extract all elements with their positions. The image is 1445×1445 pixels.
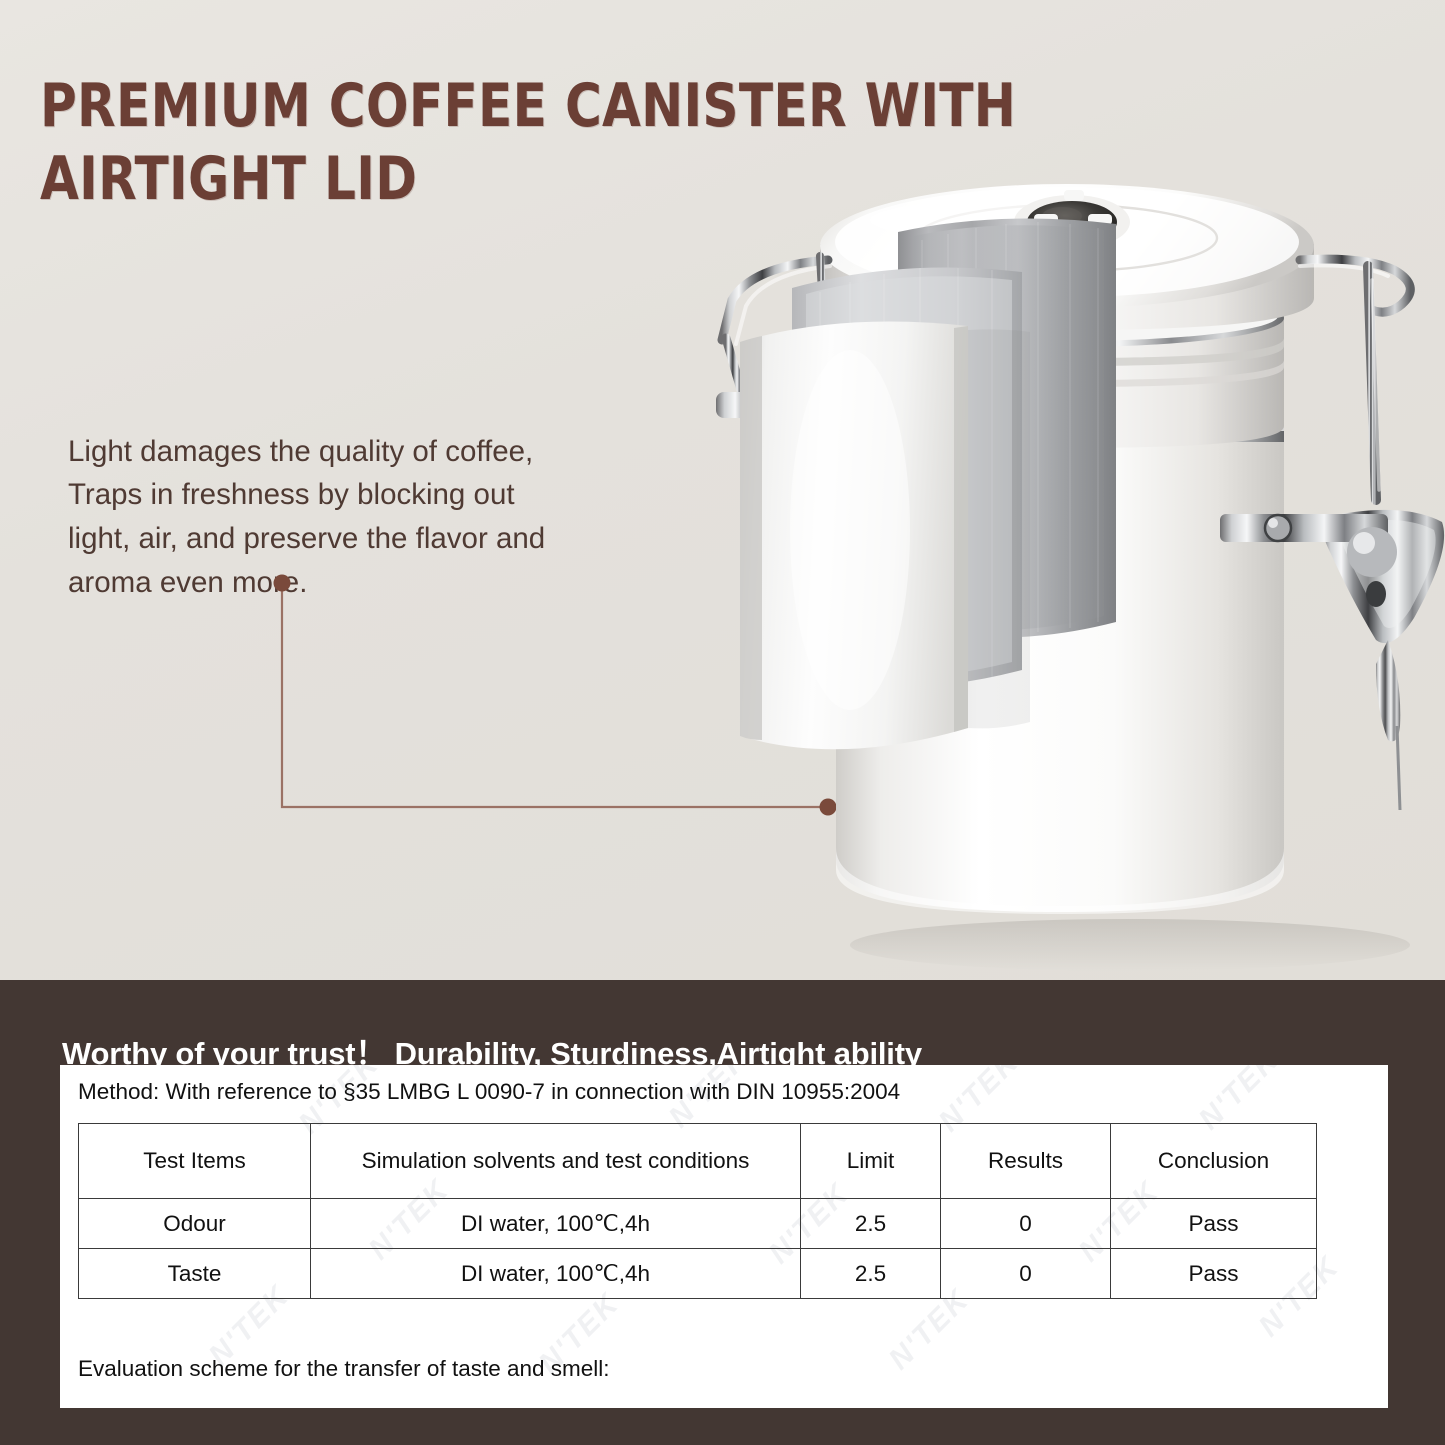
panel-cast-shadow (968, 329, 1030, 728)
hero-section: PREMIUM COFFEE CANISTER WITH AIRTIGHT LI… (0, 0, 1445, 980)
cell-conclusion: Pass (1111, 1199, 1317, 1249)
column-header-conditions: Simulation solvents and test conditions (311, 1124, 801, 1199)
evaluation-scheme-note: Evaluation scheme for the transfer of ta… (78, 1356, 610, 1382)
certification-report-card: N'TEK N'TEK N'TEK N'TEK N'TEK N'TEK N'TE… (60, 1065, 1388, 1408)
table-row: Taste DI water, 100℃,4h 2.5 0 Pass (79, 1249, 1317, 1299)
cell-conditions: DI water, 100℃,4h (311, 1199, 801, 1249)
column-header-conclusion: Conclusion (1111, 1124, 1317, 1199)
cell-conditions: DI water, 100℃,4h (311, 1249, 801, 1299)
canister-shadow (850, 919, 1410, 971)
test-results-table: Test Items Simulation solvents and test … (78, 1123, 1317, 1299)
coffee-canister-illustration (700, 170, 1445, 980)
column-header-limit: Limit (801, 1124, 941, 1199)
cell-limit: 2.5 (801, 1199, 941, 1249)
bail-clamp-right (1300, 259, 1410, 500)
table-header-row: Test Items Simulation solvents and test … (79, 1124, 1317, 1199)
cell-test-item: Odour (79, 1199, 311, 1249)
cell-test-item: Taste (79, 1249, 311, 1299)
layer-white-front-panel (740, 322, 968, 750)
feature-description: Light damages the quality of coffee, Tra… (68, 430, 628, 606)
table-row: Odour DI water, 100℃,4h 2.5 0 Pass (79, 1199, 1317, 1249)
column-header-results: Results (941, 1124, 1111, 1199)
cell-results: 0 (941, 1199, 1111, 1249)
product-infographic-page: PREMIUM COFFEE CANISTER WITH AIRTIGHT LI… (0, 0, 1445, 1445)
valve-tab-top (1064, 190, 1084, 201)
cell-conclusion: Pass (1111, 1249, 1317, 1299)
test-method-line: Method: With reference to §35 LMBG L 009… (78, 1079, 900, 1105)
cell-results: 0 (941, 1249, 1111, 1299)
column-header-test-items: Test Items (79, 1124, 311, 1199)
cell-limit: 2.5 (801, 1249, 941, 1299)
